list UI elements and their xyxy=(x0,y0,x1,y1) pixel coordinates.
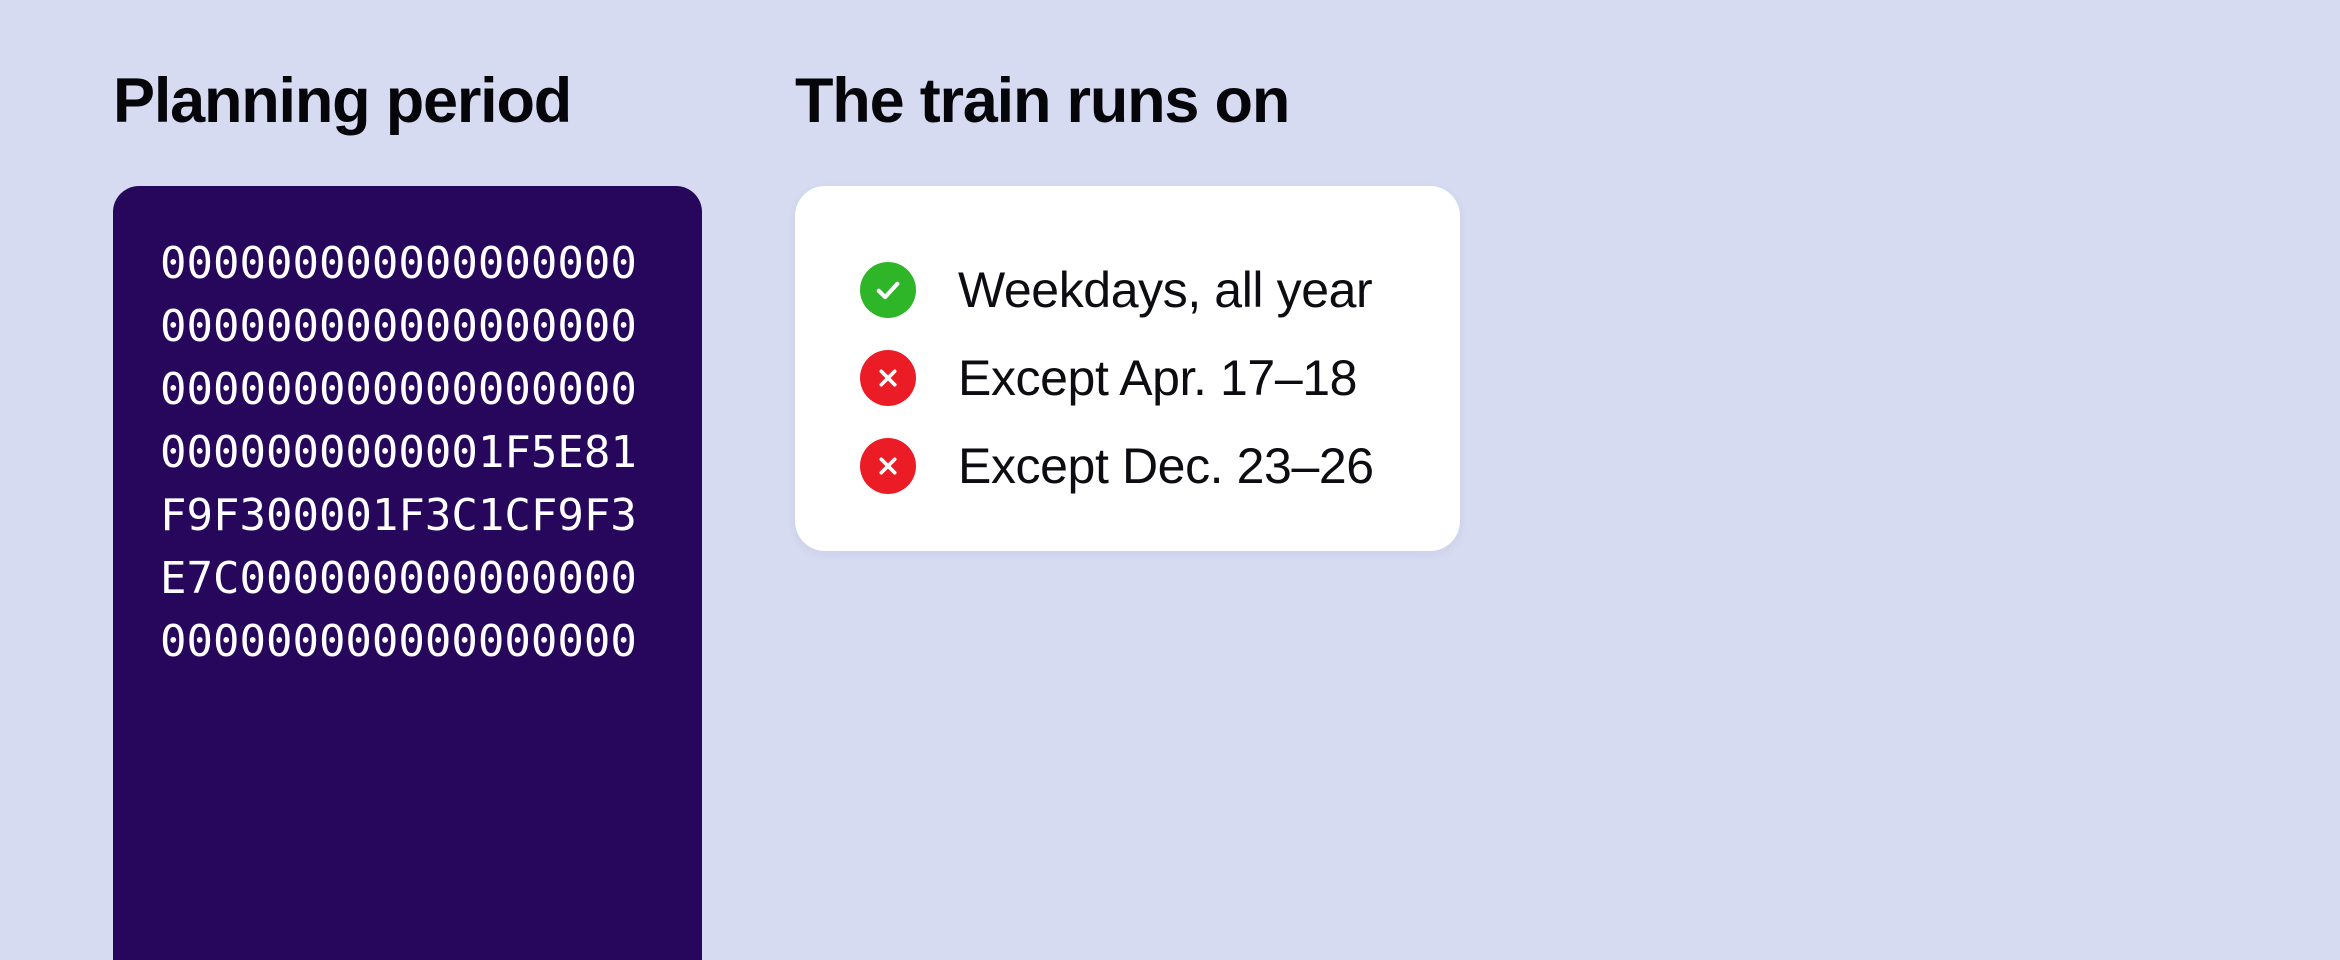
x-circle-icon xyxy=(860,350,916,406)
list-item: Weekdays, all year xyxy=(860,246,1440,334)
hex-line: 000000000000000000 xyxy=(160,295,702,358)
hex-dump-panel: 000000000000000000 000000000000000000 00… xyxy=(113,186,702,960)
hex-line: E7C000000000000000 xyxy=(160,547,702,610)
schedule-card: Weekdays, all year Except Apr. 17–18 Exc… xyxy=(795,186,1460,551)
hex-line: 000000000000000000 xyxy=(160,610,702,673)
hex-line: F9F300001F3C1CF9F3 xyxy=(160,484,702,547)
list-item-label: Weekdays, all year xyxy=(958,265,1372,315)
schedule-list: Weekdays, all year Except Apr. 17–18 Exc… xyxy=(860,246,1440,510)
list-item: Except Apr. 17–18 xyxy=(860,334,1440,422)
page-title-planning-period: Planning period xyxy=(113,68,571,134)
hex-line: 000000000000000000 xyxy=(160,358,702,421)
list-item-label: Except Dec. 23–26 xyxy=(958,441,1374,491)
hex-line: 0000000000001F5E81 xyxy=(160,421,702,484)
page-root: Planning period The train runs on 000000… xyxy=(0,0,2340,960)
hex-dump-lines: 000000000000000000 000000000000000000 00… xyxy=(113,232,702,673)
list-item: Except Dec. 23–26 xyxy=(860,422,1440,510)
x-circle-icon xyxy=(860,438,916,494)
list-item-label: Except Apr. 17–18 xyxy=(958,353,1357,403)
page-title-train-runs-on: The train runs on xyxy=(795,68,1289,134)
hex-line: 000000000000000000 xyxy=(160,232,702,295)
check-circle-icon xyxy=(860,262,916,318)
